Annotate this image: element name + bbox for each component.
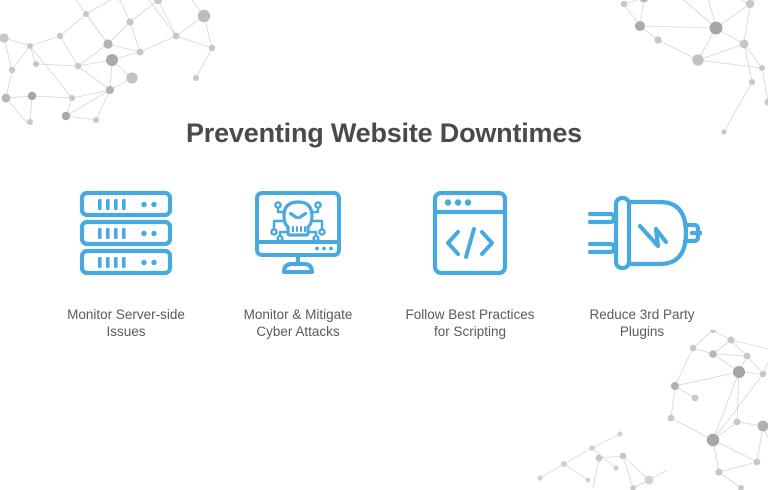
page-title-container: Preventing Website Downtimes xyxy=(0,118,768,149)
network-mesh-top-left xyxy=(0,0,220,126)
server-stack-icon-wrap xyxy=(78,190,174,276)
feature-card-row: Monitor Server-side Issues xyxy=(0,190,768,340)
power-plug-icon-wrap xyxy=(582,190,702,276)
feature-card-label: Follow Best Practices for Scripting xyxy=(405,306,534,340)
monitor-malware-skull-icon xyxy=(253,190,343,276)
network-mesh-bottom-center xyxy=(520,424,640,484)
feature-card-reduce-3rd-party-plugins: Reduce 3rd Party Plugins xyxy=(556,190,728,340)
feature-card-monitor-mitigate-cyber-attacks: Monitor & Mitigate Cyber Attacks xyxy=(212,190,384,340)
page-title: Preventing Website Downtimes xyxy=(0,118,768,149)
server-stack-icon xyxy=(78,190,174,276)
feature-card-label: Monitor & Mitigate Cyber Attacks xyxy=(244,306,353,340)
power-plug-icon xyxy=(582,190,702,276)
feature-card-monitor-server-side-issues: Monitor Server-side Issues xyxy=(40,190,212,340)
feature-card-label: Monitor Server-side Issues xyxy=(67,306,185,340)
network-mesh-bottom-right xyxy=(589,330,768,490)
infographic-canvas: Preventing Website Downtimes xyxy=(0,0,768,480)
feature-card-label: Reduce 3rd Party Plugins xyxy=(589,306,694,340)
feature-card-follow-best-practices-for-scripting: Follow Best Practices for Scripting xyxy=(384,190,556,340)
monitor-malware-skull-icon-wrap xyxy=(253,190,343,276)
browser-code-icon-wrap xyxy=(432,190,508,276)
browser-code-icon xyxy=(432,190,508,276)
